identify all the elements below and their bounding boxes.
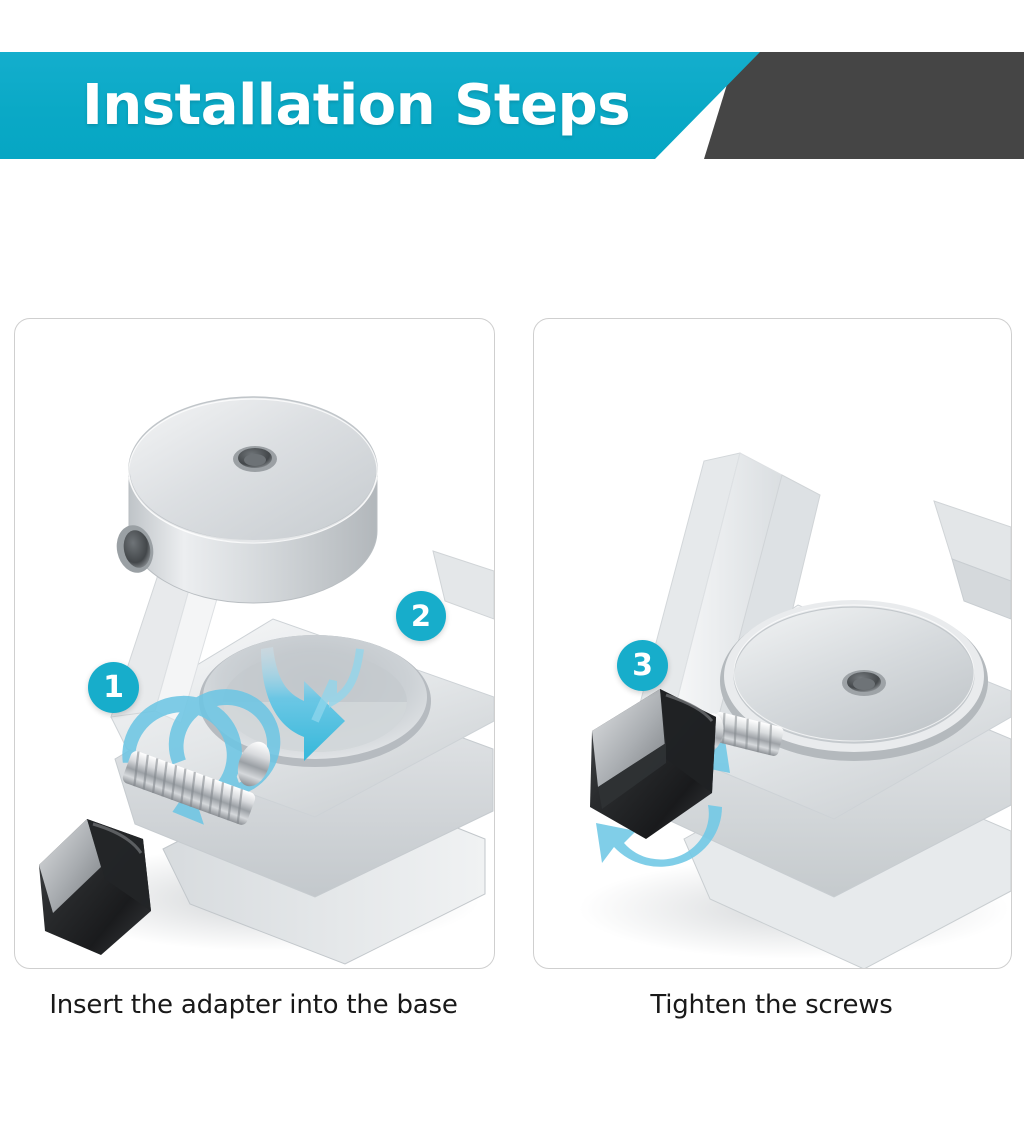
steps-gallery — [0, 318, 1024, 968]
header-dark-wedge — [704, 52, 1024, 159]
product-illustration-right — [534, 319, 1011, 968]
step-panel-right — [533, 318, 1012, 969]
step-caption-left: Insert the adapter into the base — [14, 985, 493, 1025]
adapter-insert-illustration — [15, 319, 494, 968]
step-panel-left — [14, 318, 495, 969]
step-badge-2: 2 — [396, 591, 446, 641]
page-title: Installation Steps — [82, 52, 630, 159]
step-badge-3: 3 — [617, 640, 668, 691]
product-illustration-left — [15, 319, 494, 968]
tighten-screws-illustration — [534, 319, 1011, 968]
page-header-banner: Installation Steps — [0, 52, 1024, 159]
step-caption-right: Tighten the screws — [533, 985, 1010, 1025]
step-badge-1: 1 — [88, 662, 139, 713]
